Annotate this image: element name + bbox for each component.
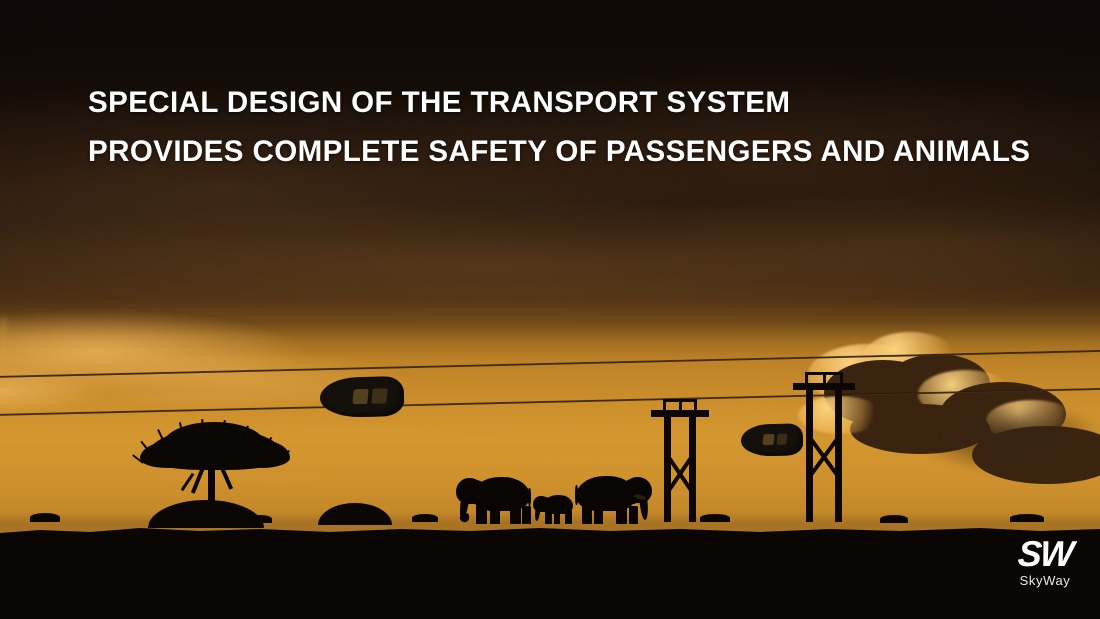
pod-window: [776, 434, 787, 445]
elephant-calf: [531, 492, 575, 524]
elephant-adult-left: [452, 474, 534, 524]
elephant-leg: [554, 511, 560, 524]
pod-window: [352, 389, 368, 404]
elephant-leg: [582, 504, 592, 524]
skyway-logo: SW SkyWay: [1018, 537, 1072, 589]
elephant-leg: [565, 510, 572, 524]
pylon-leg-right: [835, 383, 842, 522]
cloud-wisp: [430, 452, 760, 470]
horizon-scrub: [248, 515, 272, 523]
skyway-pod-right: [741, 423, 804, 457]
elephant-trunk: [534, 506, 541, 521]
elephant-ear: [466, 480, 488, 504]
horizon-scrub: [1010, 514, 1044, 522]
horizon-scrub: [412, 514, 438, 522]
elephant-leg: [476, 504, 487, 524]
headline-line-2: PROVIDES COMPLETE SAFETY OF PASSENGERS A…: [88, 127, 1034, 176]
elephant-tail: [575, 485, 578, 505]
skyway-pod-left: [320, 376, 405, 418]
horizon-scrub: [700, 514, 730, 522]
headline: SPECIAL DESIGN OF THE TRANSPORT SYSTEM P…: [88, 78, 1048, 176]
cloud-wisp: [40, 392, 300, 408]
tree-branch: [191, 466, 205, 493]
elephant-leg: [616, 504, 627, 524]
skyway-logo-wordmark: SkyWay: [1018, 573, 1072, 589]
elephant-adult-right: [572, 473, 656, 524]
ground-plane: [0, 543, 1100, 619]
tree-twig: [201, 419, 204, 434]
tree-canopy: [140, 442, 200, 468]
elephant-leg: [545, 510, 552, 524]
tree-canopy: [226, 440, 290, 468]
support-pylon-right: [806, 383, 842, 522]
pylon-crossbeam: [793, 383, 855, 390]
elephant-leg: [594, 506, 603, 524]
pylon-leg-right: [689, 410, 696, 522]
rock-mound: [148, 500, 264, 528]
pod-window: [371, 388, 387, 403]
cloud-shelf: [930, 395, 1100, 490]
elephant-leg: [629, 506, 638, 524]
elephant-leg: [522, 506, 531, 524]
support-pylon-left: [664, 410, 696, 522]
skyway-logo-mark: SW: [1017, 537, 1073, 571]
promotional-slide: SPECIAL DESIGN OF THE TRANSPORT SYSTEM P…: [0, 0, 1100, 619]
headline-line-1: SPECIAL DESIGN OF THE TRANSPORT SYSTEM: [88, 78, 1034, 127]
horizon-scrub: [30, 513, 60, 522]
acacia-tree: [140, 422, 290, 522]
pylon-crossbeam: [651, 410, 709, 417]
horizon-scrub: [880, 515, 908, 523]
pylon-leg-left: [806, 383, 813, 522]
pylon-leg-left: [664, 410, 671, 522]
elephant-leg: [490, 506, 500, 524]
pod-window: [762, 434, 774, 445]
elephant-leg: [510, 505, 521, 524]
